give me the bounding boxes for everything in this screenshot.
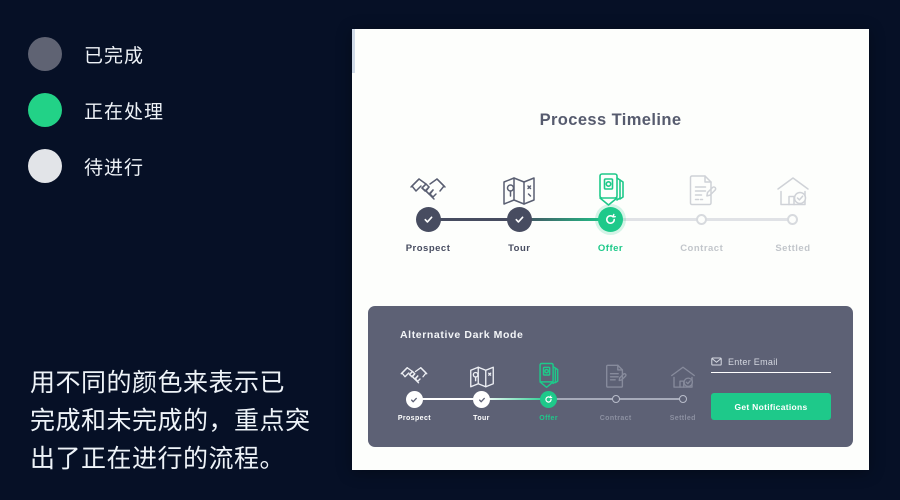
contract-pen-icon — [654, 161, 750, 207]
dark-mode-title: Alternative Dark Mode — [400, 329, 523, 341]
check-icon — [410, 396, 418, 404]
circle-icon — [28, 93, 62, 127]
timeline-step-settled[interactable]: Settled — [745, 161, 841, 254]
timeline-step-label: Contract — [654, 243, 750, 254]
cash-stack-icon — [563, 161, 659, 207]
check-icon — [514, 214, 525, 225]
process-timeline-card: Process Timeline — [352, 29, 869, 470]
timeline-track: Prospect — [388, 161, 833, 273]
house-check-icon — [745, 161, 841, 207]
timeline-node-offer[interactable] — [598, 207, 623, 232]
dark-timeline-node-tour[interactable] — [473, 391, 490, 408]
caption-line: 用不同的颜色来表示已 — [30, 364, 330, 402]
map-icon — [471, 161, 567, 207]
timeline-node-tour[interactable] — [507, 207, 532, 232]
check-icon — [423, 214, 434, 225]
legend-item-completed: 已完成 — [28, 26, 328, 82]
timeline-node-prospect[interactable] — [416, 207, 441, 232]
legend-item-label: 已完成 — [84, 41, 144, 68]
newsletter-form: Enter Email Get Notifications — [711, 356, 831, 420]
card-edge-accent — [352, 29, 355, 73]
caption-line: 出了正在进行的流程。 — [30, 440, 330, 478]
dark-timeline-node-prospect[interactable] — [406, 391, 423, 408]
get-notifications-button[interactable]: Get Notifications — [711, 393, 831, 420]
check-icon — [478, 396, 486, 404]
timeline-step-contract[interactable]: Contract — [654, 161, 750, 254]
legend-item-in-progress: 正在处理 — [28, 82, 328, 138]
timeline-step-label: Prospect — [380, 243, 476, 254]
circle-icon — [28, 37, 62, 71]
alternative-dark-mode-panel: Alternative Dark Mode — [368, 306, 853, 447]
caption-line: 完成和未完成的，重点突 — [30, 402, 330, 440]
screenshot-root: 已完成 正在处理 待进行 用不同的颜色来表示已 完成和未完成的，重点突 出了正在… — [0, 0, 900, 500]
caption: 用不同的颜色来表示已 完成和未完成的，重点突 出了正在进行的流程。 — [30, 364, 330, 478]
circle-icon — [28, 149, 62, 183]
legend: 已完成 正在处理 待进行 — [28, 26, 328, 194]
handshake-icon — [380, 161, 476, 207]
page-title: Process Timeline — [352, 111, 869, 130]
email-field[interactable]: Enter Email — [711, 356, 831, 373]
timeline-light: Prospect — [388, 161, 833, 273]
in-progress-icon — [604, 213, 617, 226]
dark-timeline-node-settled[interactable] — [679, 395, 687, 403]
timeline-step-label: Settled — [745, 243, 841, 254]
legend-item-label: 正在处理 — [84, 97, 164, 124]
timeline-step-label: Offer — [563, 243, 659, 254]
timeline-step-label: Tour — [471, 243, 567, 254]
envelope-icon — [711, 356, 722, 367]
email-placeholder: Enter Email — [728, 357, 778, 367]
timeline-dark: Prospect — [390, 355, 695, 435]
dark-timeline-node-contract[interactable] — [612, 395, 620, 403]
in-progress-icon — [544, 395, 553, 404]
legend-item-label: 待进行 — [84, 153, 144, 180]
dark-timeline-node-offer[interactable] — [540, 391, 557, 408]
legend-item-pending: 待进行 — [28, 138, 328, 194]
